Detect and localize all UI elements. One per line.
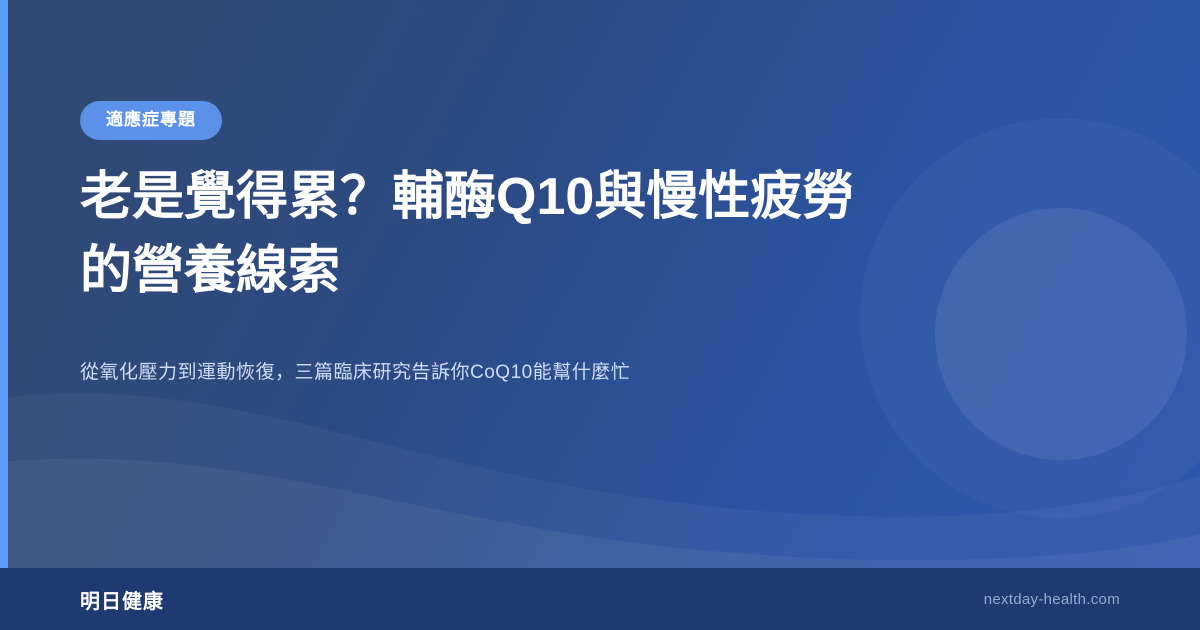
page-subtitle: 從氧化壓力到運動恢復，三篇臨床研究告訴你CoQ10能幫什麼忙 xyxy=(80,358,880,388)
card-footer: 明日健康 nextday-health.com xyxy=(0,568,1200,630)
site-url: nextday-health.com xyxy=(984,591,1120,608)
og-share-card: 適應症專題 老是覺得累？輔酶Q10與慢性疲勞的營養線索 從氧化壓力到運動恢復，三… xyxy=(0,0,1200,630)
page-title: 老是覺得累？輔酶Q10與慢性疲勞的營養線索 xyxy=(80,160,880,308)
left-accent-bar xyxy=(0,0,8,570)
category-badge: 適應症專題 xyxy=(80,101,222,140)
card-content: 適應症專題 老是覺得累？輔酶Q10與慢性疲勞的營養線索 從氧化壓力到運動恢復，三… xyxy=(80,0,940,570)
brand-name: 明日健康 xyxy=(80,585,164,614)
